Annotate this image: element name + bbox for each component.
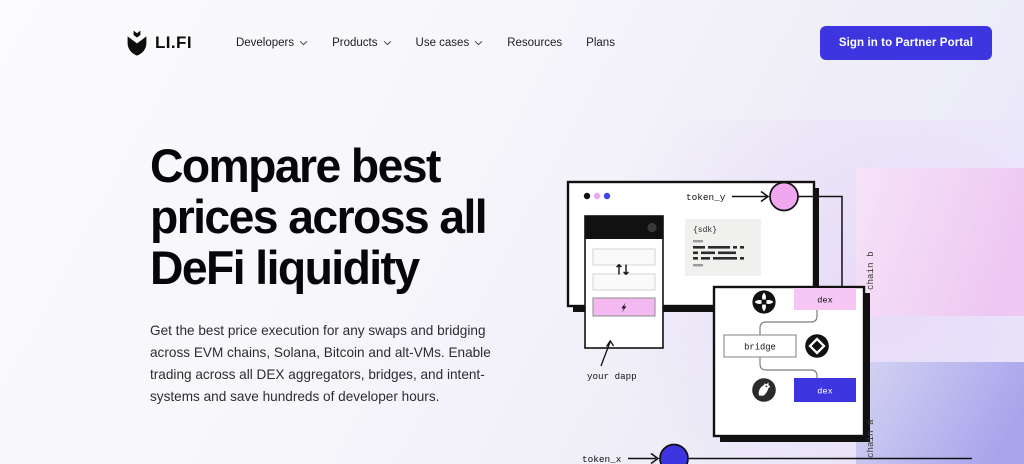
your-dapp-label: your dapp [587, 371, 637, 382]
nav-item-resources[interactable]: Resources [507, 37, 562, 49]
nav-item-use-cases[interactable]: Use cases [416, 37, 484, 49]
nav-item-products[interactable]: Products [332, 37, 391, 49]
chain-b-panel [856, 168, 1024, 316]
token-x-circle [660, 445, 688, 464]
widget-input-from [593, 249, 655, 265]
nav-item-label: Use cases [416, 37, 470, 49]
page-title-line-2: prices across all [150, 190, 486, 243]
window-dots [584, 193, 610, 199]
chain-a-panel [856, 362, 1024, 464]
chevron-down-icon [299, 40, 308, 46]
lifi-chevron-logo-icon [126, 30, 148, 56]
nav-item-label: Developers [236, 37, 294, 49]
svg-text:{sdk}: {sdk} [693, 226, 717, 235]
hero-description: Get the best price execution for any swa… [150, 320, 508, 409]
token-x-label: token_x [582, 454, 622, 464]
chevron-down-icon [474, 40, 483, 46]
nav-item-label: Plans [586, 37, 615, 49]
chain-b-label-group: chain b [865, 251, 876, 290]
brand-logo[interactable]: LI.FI [126, 30, 192, 56]
page-title-line-1: Compare best [150, 139, 440, 192]
chain-a-label: chain a [865, 419, 876, 458]
bridge-chip: bridge [724, 335, 796, 357]
svg-text:token_y: token_y [686, 192, 726, 203]
token-y-circle [770, 183, 798, 211]
page-title-line-3: DeFi liquidity [150, 241, 419, 294]
sign-in-partner-portal-button[interactable]: Sign in to Partner Portal [820, 26, 992, 60]
hero-illustration: token_y {sdk} [556, 150, 1024, 464]
widget-input-to [593, 274, 655, 290]
page-title: Compare best prices across all DeFi liqu… [150, 140, 544, 293]
pinwheel-protocol-icon [752, 290, 775, 313]
window-dot [584, 193, 590, 199]
dex-pink-label: dex [817, 296, 832, 306]
brand-name: LI.FI [155, 33, 192, 53]
widget-avatar-dot [647, 223, 656, 232]
chain-b-label: chain b [865, 251, 876, 290]
bridge-label: bridge [744, 343, 776, 353]
dex-pink-chip: dex [794, 288, 856, 310]
unicorn-protocol-icon [752, 378, 776, 402]
chain-a-label-group: chain a [865, 419, 876, 458]
main-nav: Developers Products Use cases Resources … [236, 37, 615, 49]
hero-section: Compare best prices across all DeFi liqu… [150, 140, 550, 409]
nav-item-label: Products [332, 37, 377, 49]
nav-item-plans[interactable]: Plans [586, 37, 615, 49]
sdk-code-block: {sdk} [685, 219, 761, 276]
dapp-widget-mock [585, 216, 663, 348]
routing-window-mock [714, 287, 870, 442]
dex-blue-chip: dex [794, 378, 856, 402]
window-dot [604, 193, 610, 199]
chevron-down-icon [383, 40, 392, 46]
dex-blue-label: dex [817, 386, 832, 396]
diamond-protocol-icon [805, 334, 829, 358]
nav-item-developers[interactable]: Developers [236, 37, 308, 49]
window-dot [594, 193, 600, 199]
site-header: LI.FI Developers Products Use cases Reso… [0, 0, 1024, 86]
nav-item-label: Resources [507, 37, 562, 49]
